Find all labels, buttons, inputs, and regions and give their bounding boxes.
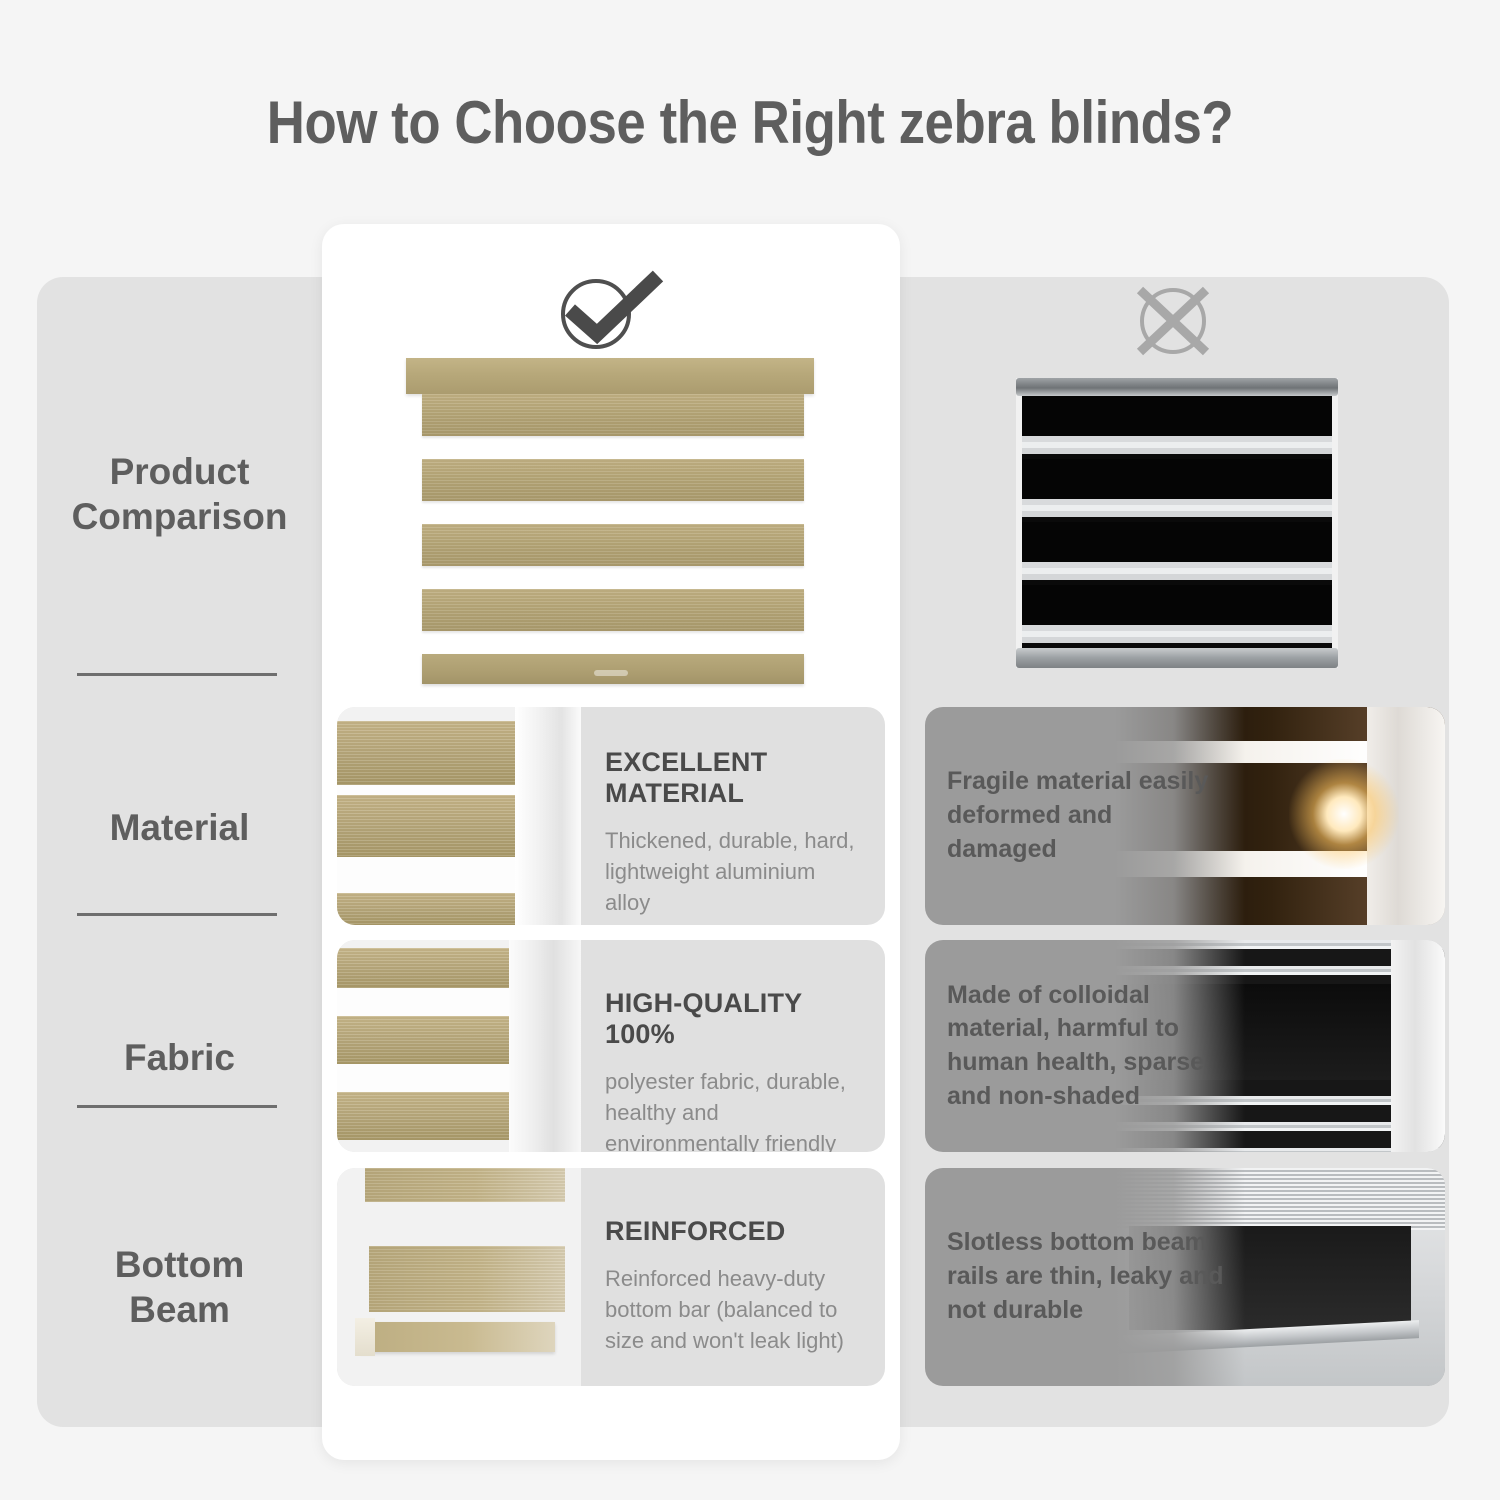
tan-blind-bottom-bar [422, 654, 804, 684]
good-feature-body: polyester fabric, durable, healthy and e… [605, 1066, 863, 1152]
black-blind-bottom-rail [1016, 648, 1338, 668]
row-label-product-comparison: Product Comparison [37, 449, 322, 539]
black-blind-headrail [1016, 378, 1338, 396]
tan-blind-slat [422, 524, 804, 566]
good-feature-heading: HIGH-QUALITY 100% [605, 988, 863, 1050]
tan-blind-slat [422, 589, 804, 631]
row-label-bottom-line2: Beam [129, 1289, 230, 1330]
good-feature-heading: REINFORCED [605, 1216, 863, 1247]
hero-tan-zebra-blind [406, 358, 814, 698]
good-feature-text-bottom-beam: REINFORCED Reinforced heavy-duty bottom … [581, 1168, 885, 1386]
row-label-material: Material [37, 805, 322, 850]
tan-blind-bottom-bar-photo [337, 1168, 581, 1386]
check-circle-icon [548, 268, 668, 352]
row-label-product-line1: Product [110, 451, 250, 492]
tan-blind-slat [422, 394, 804, 436]
good-feature-text-material: EXCELLENT MATERIAL Thickened, durable, h… [581, 707, 885, 925]
row-label-bottom-beam: Bottom Beam [37, 1242, 322, 1332]
tan-blind-slat [422, 459, 804, 501]
bad-feature-card-material: Fragile material easily deformed and dam… [925, 707, 1445, 925]
row-label-column: Product Comparison Material Fabric Botto… [37, 277, 322, 1427]
bad-feature-text: Made of colloidal material, harmful to h… [947, 940, 1227, 1152]
good-feature-card-fabric: HIGH-QUALITY 100% polyester fabric, dura… [337, 940, 885, 1152]
bad-feature-card-fabric: Made of colloidal material, harmful to h… [925, 940, 1445, 1152]
bad-feature-card-bottom-beam: Slotless bottom beam rails are thin, lea… [925, 1168, 1445, 1386]
tan-blind-headrail [406, 358, 814, 394]
page-title: How to Choose the Right zebra blinds? [90, 88, 1410, 157]
good-feature-card-material: EXCELLENT MATERIAL Thickened, durable, h… [337, 707, 885, 925]
bad-feature-text: Fragile material easily deformed and dam… [947, 707, 1227, 925]
black-blind-fabric [1022, 396, 1332, 648]
tan-blind-fabric-photo [337, 940, 581, 1152]
row-divider-2 [77, 913, 277, 916]
tan-blind-material-photo [337, 707, 581, 925]
bad-feature-text: Slotless bottom beam rails are thin, lea… [947, 1168, 1227, 1386]
row-label-bottom-line1: Bottom [115, 1244, 244, 1285]
cross-circle-icon [1124, 282, 1222, 360]
good-feature-text-fabric: HIGH-QUALITY 100% polyester fabric, dura… [581, 940, 885, 1152]
good-feature-card-bottom-beam: REINFORCED Reinforced heavy-duty bottom … [337, 1168, 885, 1386]
row-divider-3 [77, 1105, 277, 1108]
infographic-page: How to Choose the Right zebra blinds? Pr… [0, 0, 1500, 1500]
row-label-fabric: Fabric [37, 1035, 322, 1080]
tan-blind-pull-handle [594, 670, 628, 676]
row-divider-1 [77, 673, 277, 676]
good-feature-heading: EXCELLENT MATERIAL [605, 747, 863, 809]
row-label-product-line2: Comparison [72, 496, 288, 537]
good-feature-body: Thickened, durable, hard, lightweight al… [605, 825, 863, 919]
good-feature-body: Reinforced heavy-duty bottom bar (balanc… [605, 1263, 863, 1357]
hero-black-zebra-blind [1016, 378, 1338, 668]
